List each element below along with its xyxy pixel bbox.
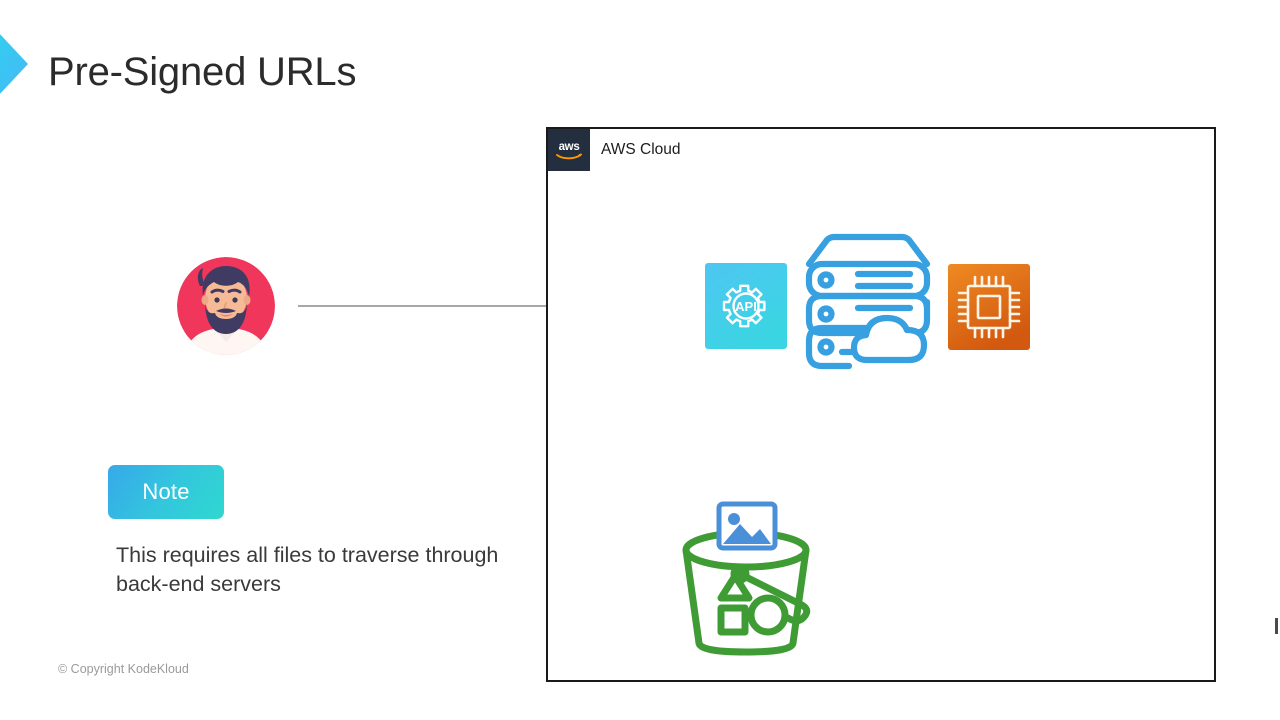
- aws-cloud-header: aws AWS Cloud: [548, 129, 681, 171]
- note-badge: Note: [108, 465, 224, 519]
- aws-logo-icon: aws: [548, 129, 590, 171]
- svg-text:API: API: [735, 299, 757, 314]
- aws-cloud-label: AWS Cloud: [601, 141, 681, 159]
- servers-cloud-icon: [797, 230, 939, 374]
- api-gateway-icon: API: [705, 263, 787, 349]
- copyright-footer: © Copyright KodeKloud: [58, 662, 189, 676]
- chevron-accent-icon: [0, 32, 30, 96]
- note-badge-label: Note: [142, 479, 189, 505]
- page-title: Pre-Signed URLs: [48, 48, 356, 96]
- user-avatar: [176, 256, 276, 356]
- slide-canvas: Pre-Signed URLs: [0, 0, 1280, 720]
- s3-bucket-icon: [678, 496, 814, 658]
- aws-cloud-group: aws AWS Cloud: [546, 127, 1216, 682]
- note-body-text: This requires all files to traverse thro…: [116, 541, 506, 599]
- svg-text:aws: aws: [559, 141, 580, 153]
- compute-chip-icon: [948, 264, 1030, 350]
- scrollbar-artifact: [1275, 618, 1278, 634]
